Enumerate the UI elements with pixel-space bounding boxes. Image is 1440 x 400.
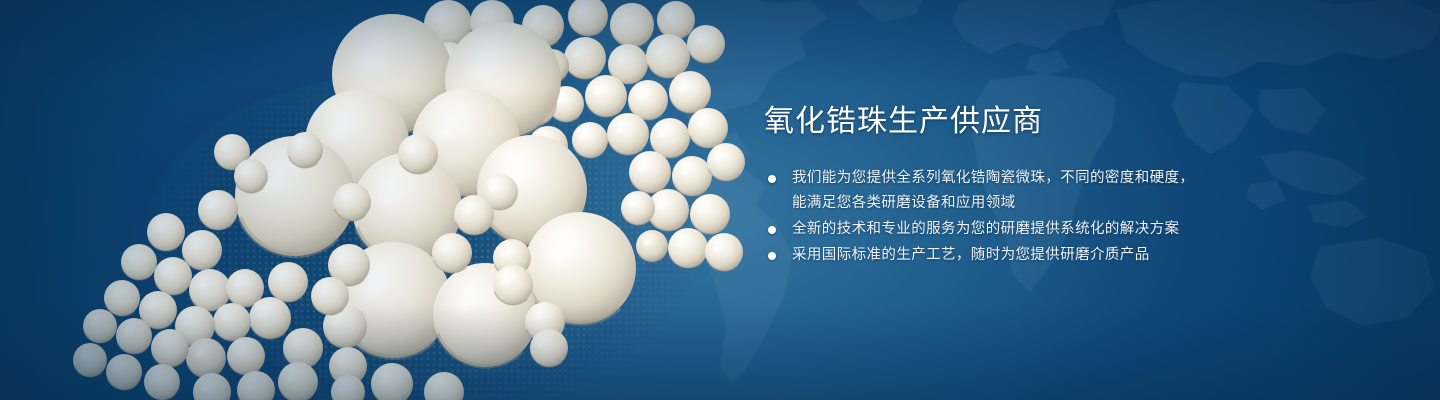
bullet-dot-icon: [768, 252, 776, 260]
hero-banner: 氧化锆珠生产供应商 我们能为您提供全系列氧化锆陶瓷微珠，不同的密度和硬度， 能满…: [0, 0, 1440, 400]
banner-content: 氧化锆珠生产供应商 我们能为您提供全系列氧化锆陶瓷微珠，不同的密度和硬度， 能满…: [764, 104, 1324, 269]
bullet-dot-icon: [768, 226, 776, 234]
feature-bullet-item: 全新的技术和专业的服务为您的研磨提供系统化的解决方案: [764, 217, 1324, 242]
feature-bullet-line1: 采用国际标准的生产工艺，随时为您提供研磨介质产品: [792, 247, 1150, 263]
feature-bullet-line2: 能满足您各类研磨设备和应用领域: [792, 191, 1324, 216]
banner-headline: 氧化锆珠生产供应商: [764, 104, 1324, 140]
feature-bullet-item: 我们能为您提供全系列氧化锆陶瓷微珠，不同的密度和硬度， 能满足您各类研磨设备和应…: [764, 166, 1324, 216]
feature-bullet-line1: 我们能为您提供全系列氧化锆陶瓷微珠，不同的密度和硬度，: [792, 170, 1194, 186]
feature-bullet-item: 采用国际标准的生产工艺，随时为您提供研磨介质产品: [764, 243, 1324, 268]
bullet-dot-icon: [768, 175, 776, 183]
feature-bullet-line1: 全新的技术和专业的服务为您的研磨提供系统化的解决方案: [792, 221, 1179, 237]
feature-bullet-list: 我们能为您提供全系列氧化锆陶瓷微珠，不同的密度和硬度， 能满足您各类研磨设备和应…: [764, 166, 1324, 268]
